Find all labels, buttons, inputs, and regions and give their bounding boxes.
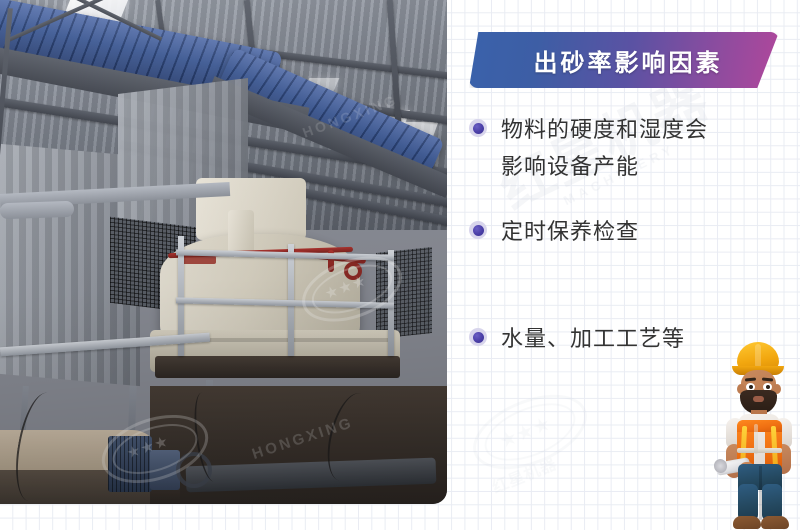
list-item-label: 定时保养检查 [501, 214, 639, 251]
worker-vest-zipper [754, 424, 758, 454]
worker-pupil [749, 385, 753, 389]
list-item-label: 物料的硬度和湿度会 影响设备产能 [501, 112, 708, 186]
worker-helmet-ridge [755, 344, 761, 368]
worker-pants-seam [759, 466, 762, 520]
photo-roller [0, 201, 74, 220]
list-item: 定时保养检查 [469, 214, 789, 251]
bullet-dot-icon [469, 328, 487, 346]
worker-pants-left-leg [738, 484, 758, 520]
worker-vest-reflective-band [737, 448, 782, 453]
worker-pants-right-leg [762, 484, 782, 520]
list-item-label: 水量、加工工艺等 [501, 321, 685, 358]
photo-red-wheel [344, 262, 362, 280]
plant-photo: ★★★ ★★★ HONGXING HONGXING [0, 0, 447, 504]
photo-base-shadow [155, 356, 400, 378]
worker-pupil [766, 385, 770, 389]
bullet-dot-icon [469, 221, 487, 239]
photo-mesh-guard [376, 247, 432, 339]
bullet-dot-icon [469, 119, 487, 137]
worker-boot-left [733, 516, 761, 529]
page-title: 出砂率影响因素 [534, 43, 723, 78]
page-root: 红星机器 MACHINERY ★★★ 红星机器 [0, 0, 800, 530]
photo-motor [108, 436, 152, 492]
construction-worker-illustration [716, 340, 800, 530]
bullet-list: 物料的硬度和湿度会 影响设备产能 定时保养检查 水量、加工工艺等 [469, 112, 789, 358]
worker-mouth [753, 396, 764, 402]
list-item: 物料的硬度和湿度会 影响设备产能 [469, 112, 789, 186]
title-banner: 出砂率影响因素 [469, 32, 779, 88]
worker-boot-right [761, 516, 789, 529]
